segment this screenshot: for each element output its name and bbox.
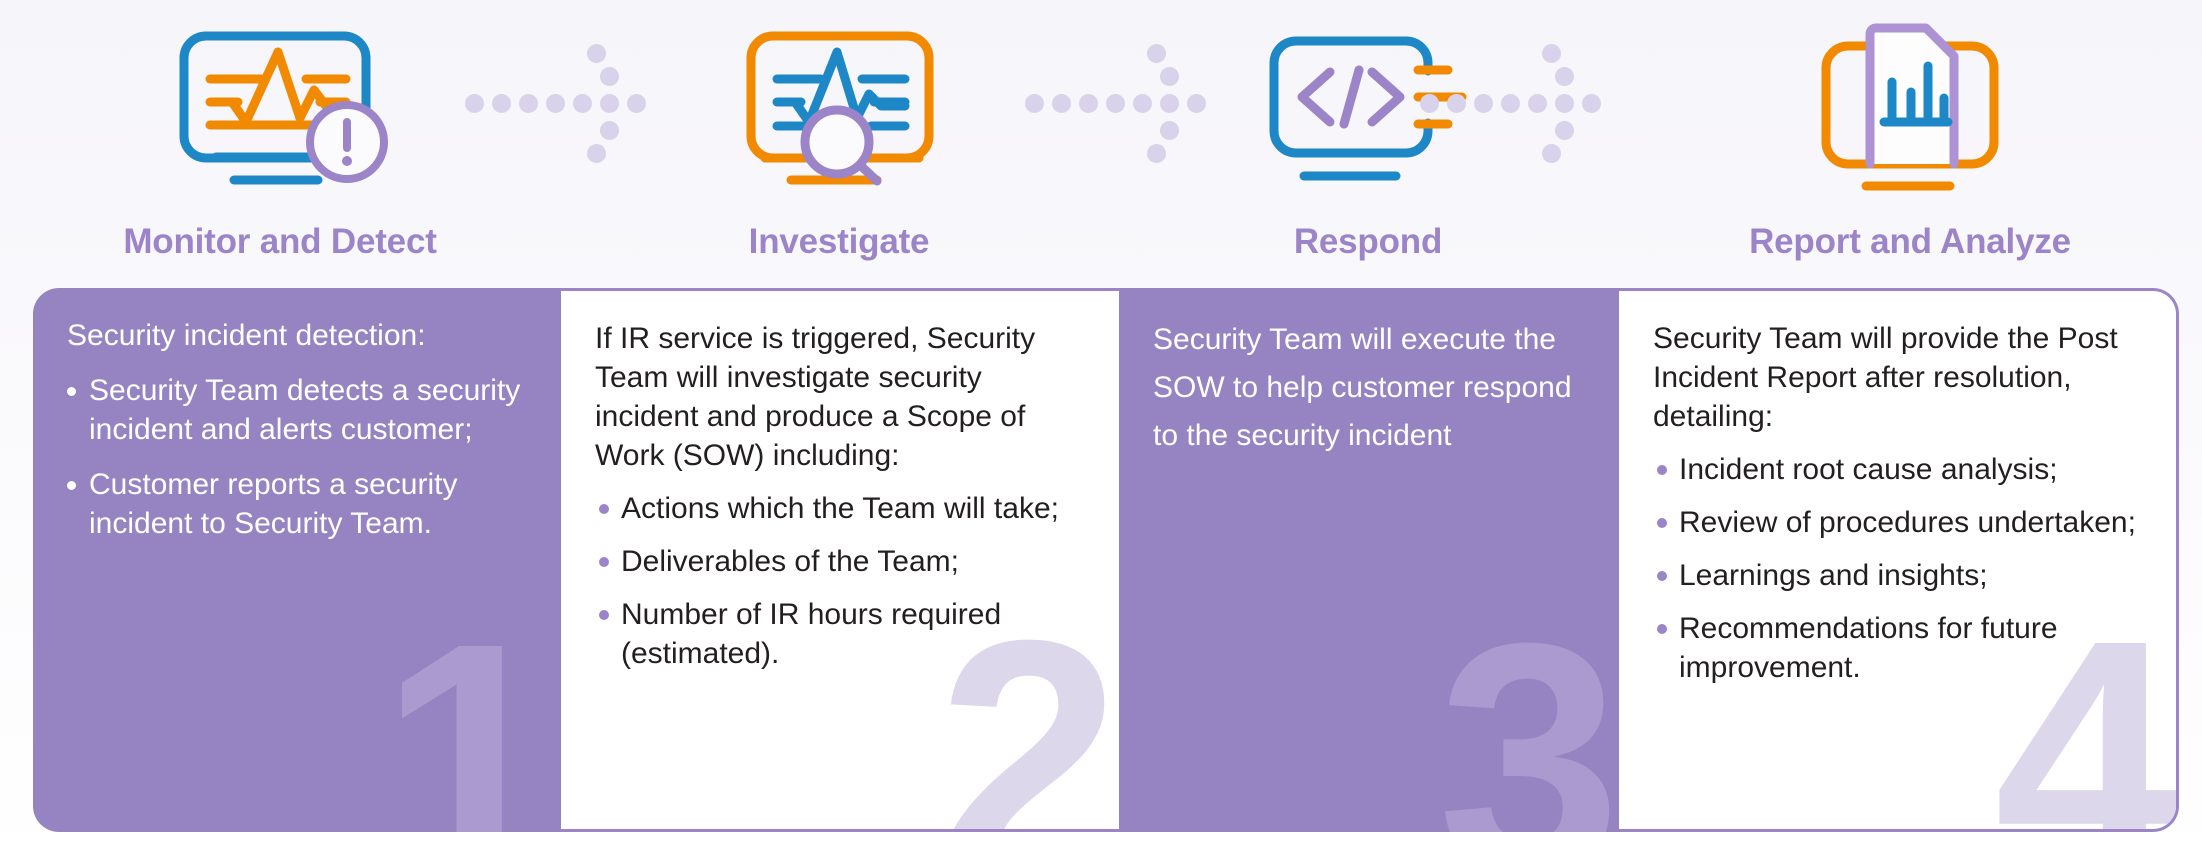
connector-dot bbox=[1052, 94, 1071, 113]
list-item: Review of procedures undertaken; bbox=[1653, 503, 2142, 542]
list-item: Security Team detects a security inciden… bbox=[67, 371, 527, 449]
connector-dot bbox=[1542, 44, 1561, 63]
connector-dot bbox=[1555, 121, 1574, 140]
connector-dot bbox=[492, 94, 511, 113]
monitor-waveform-magnifier-icon bbox=[729, 14, 949, 204]
step-label-3: Respond bbox=[1118, 222, 1618, 262]
step-card-2-lead: If IR service is triggered, Security Tea… bbox=[595, 319, 1085, 475]
connector-dot bbox=[1079, 94, 1098, 113]
monitor-document-barchart-icon bbox=[1800, 14, 2020, 204]
step-card-2[interactable]: 2 If IR service is triggered, Security T… bbox=[561, 288, 1119, 832]
step-card-3[interactable]: 3 Security Team will execute the SOW to … bbox=[1119, 288, 1619, 832]
connector-dot bbox=[1528, 94, 1547, 113]
connector-arrow-3 bbox=[1420, 48, 1600, 158]
step-card-1-lead: Security incident detection: bbox=[67, 316, 527, 355]
step-card-4[interactable]: 4 Security Team will provide the Post In… bbox=[1619, 288, 2179, 832]
step-card-2-bullets: Actions which the Team will take; Delive… bbox=[595, 489, 1085, 673]
list-item: Actions which the Team will take; bbox=[595, 489, 1085, 528]
step-header-4: Report and Analyze bbox=[1618, 0, 2202, 288]
step-card-2-content: If IR service is triggered, Security Tea… bbox=[561, 291, 1119, 673]
connector-dot bbox=[1555, 94, 1574, 113]
step-watermark-3: 3 bbox=[1437, 594, 1613, 832]
list-item: Incident root cause analysis; bbox=[1653, 450, 2142, 489]
connector-dot bbox=[1474, 94, 1493, 113]
connector-dot bbox=[1582, 94, 1601, 113]
connector-dot bbox=[1447, 94, 1466, 113]
connector-dot bbox=[1555, 67, 1574, 86]
process-icon-row: Monitor and Detect bbox=[0, 0, 2202, 288]
list-item: Recommendations for future improvement. bbox=[1653, 609, 2142, 687]
list-item: Number of IR hours required (estimated). bbox=[595, 595, 1085, 673]
step-card-3-content: Security Team will execute the SOW to he… bbox=[1119, 288, 1619, 460]
connector-dot bbox=[465, 94, 484, 113]
connector-dot bbox=[1501, 94, 1520, 113]
list-item: Customer reports a security incident to … bbox=[67, 465, 527, 543]
step-label-2: Investigate bbox=[560, 222, 1118, 262]
step-card-3-lead: Security Team will execute the SOW to he… bbox=[1153, 316, 1585, 460]
step-label-1: Monitor and Detect bbox=[0, 222, 560, 262]
infographic-root: Monitor and Detect bbox=[0, 0, 2202, 867]
step-card-1-bullets: Security Team detects a security inciden… bbox=[67, 371, 527, 543]
step-card-4-lead: Security Team will provide the Post Inci… bbox=[1653, 319, 2142, 436]
step-card-4-content: Security Team will provide the Post Inci… bbox=[1619, 291, 2176, 687]
step-label-4: Report and Analyze bbox=[1618, 222, 2202, 262]
list-item: Learnings and insights; bbox=[1653, 556, 2142, 595]
step-card-1[interactable]: 1 Security incident detection: Security … bbox=[33, 288, 561, 832]
process-card-row: 1 Security incident detection: Security … bbox=[33, 288, 2179, 832]
connector-dot bbox=[1420, 94, 1439, 113]
step-card-4-bullets: Incident root cause analysis; Review of … bbox=[1653, 450, 2142, 687]
connector-dot bbox=[1542, 144, 1561, 163]
connector-dot bbox=[519, 94, 538, 113]
step-watermark-1: 1 bbox=[379, 594, 555, 832]
connector-dot bbox=[1025, 94, 1044, 113]
list-item: Deliverables of the Team; bbox=[595, 542, 1085, 581]
step-card-1-content: Security incident detection: Security Te… bbox=[33, 288, 561, 543]
monitor-waveform-alert-icon bbox=[170, 14, 390, 204]
